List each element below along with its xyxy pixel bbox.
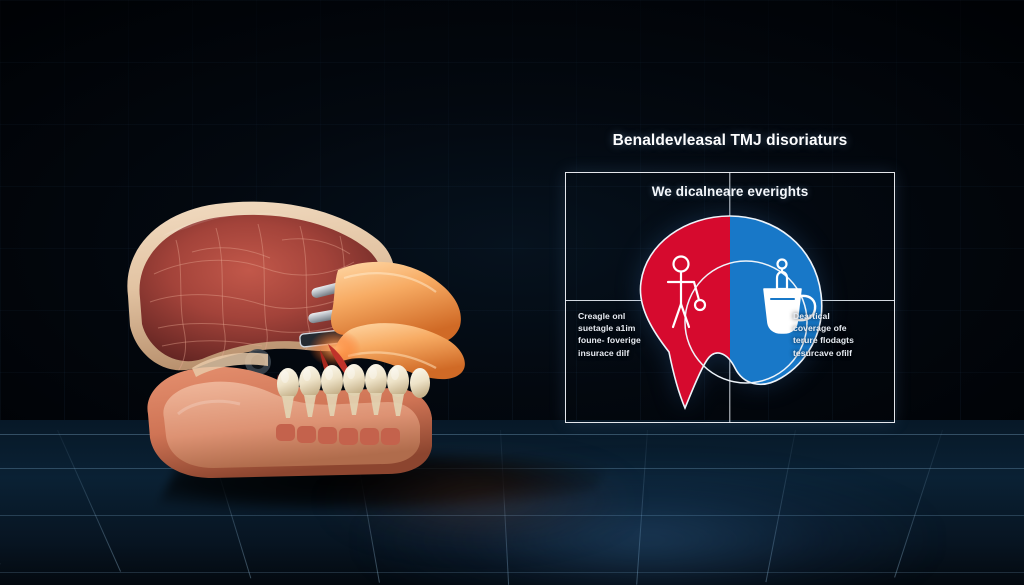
panel-horizontal-divider (565, 300, 895, 301)
right-text-line-4: tesurcave ofilf (793, 347, 885, 359)
left-text-line-1: Creagle onl (578, 310, 670, 322)
right-description-text: Deartical coverage ofe terure flodagts t… (793, 310, 885, 359)
tmj-infographic-panel: Benaldevleasal TMJ disoriaturs We dicaln… (565, 172, 895, 423)
left-text-line-2: suetagle a1im (578, 322, 670, 334)
joint-inflammation-glow (309, 329, 361, 367)
left-text-line-4: insurace dilf (578, 347, 670, 359)
panel-title: Benaldevleasal TMJ disoriaturs (565, 132, 895, 150)
panel-vertical-divider (729, 172, 730, 423)
left-text-line-3: foune- foverige (578, 334, 670, 346)
right-text-line-1: Deartical (793, 310, 885, 322)
scene-stage: Benaldevleasal TMJ disoriaturs We dicaln… (0, 0, 1024, 585)
mandible-group (147, 364, 432, 478)
right-text-line-3: terure flodagts (793, 334, 885, 346)
tmj-anatomy-illustration (92, 178, 492, 488)
left-description-text: Creagle onl suetagle a1im foune- foverig… (578, 310, 670, 359)
panel-subtitle: We dicalneare everights (565, 184, 895, 199)
right-text-line-2: coverage ofe (793, 322, 885, 334)
